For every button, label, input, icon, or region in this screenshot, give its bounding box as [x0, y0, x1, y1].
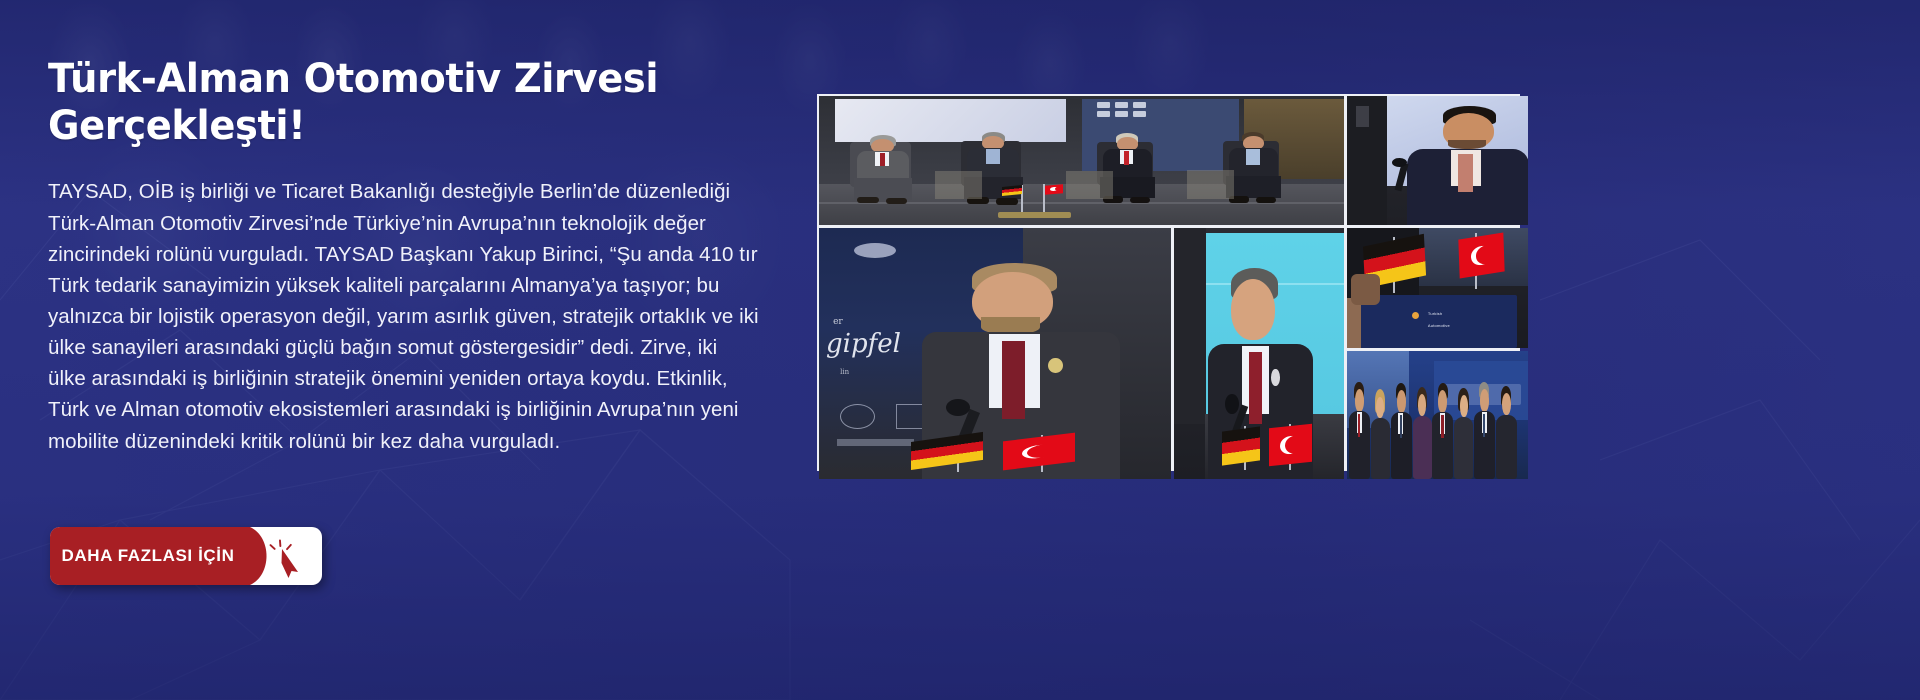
promo-banner: Türk-Alman Otomotiv Zirvesi Gerçekleşti!…	[0, 0, 1920, 700]
collage-photo-panel-discussion[interactable]: Türk-Alman Otomotiv Zirvesi panel oturum…	[819, 96, 1344, 225]
banner-content: Türk-Alman Otomotiv Zirvesi Gerçekleşti!…	[48, 56, 808, 457]
podium-brand-line-1: Turkish	[1428, 311, 1442, 316]
more-info-button[interactable]: DAHA FAZLASI İÇİN	[50, 527, 322, 585]
podium-brand-line-2: Automotive	[1428, 323, 1450, 328]
photo-collage: Türk-Alman Otomotiv Zirvesi panel oturum…	[817, 94, 1520, 471]
cta-button-shape	[50, 527, 322, 585]
collage-photo-speaker-gipfel[interactable]: er gipfel lin	[819, 228, 1171, 479]
collage-photo-speaker-podium[interactable]: Konuşmacı, Türk ve Alman bayrakları önün…	[1174, 228, 1344, 479]
page-title: Türk-Alman Otomotiv Zirvesi Gerçekleşti!	[48, 56, 778, 150]
collage-photo-audience[interactable]: Turkish Automotive Zirve katılımcıları s…	[1347, 228, 1528, 348]
collage-photo-minister-speech[interactable]: Bakan kürsüde konuşma yapıyor	[1347, 96, 1528, 225]
collage-photo-group[interactable]: Zirve katılımcıları toplu fotoğraf	[1347, 351, 1528, 479]
body-paragraph: TAYSAD, OİB iş birliği ve Ticaret Bakanl…	[48, 176, 760, 456]
